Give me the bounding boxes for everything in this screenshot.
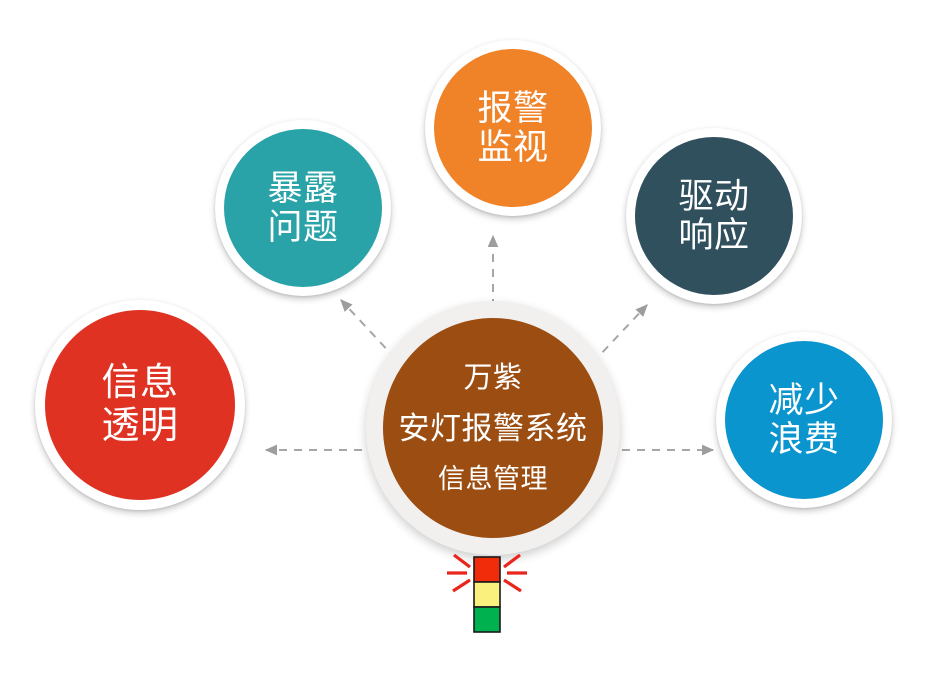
andon-green-lamp bbox=[474, 607, 500, 632]
node-expose-problem[interactable]: 暴露 问题 bbox=[215, 120, 391, 296]
node-reduce-waste[interactable]: 减少 浪费 bbox=[716, 332, 892, 508]
hub-label-3: 信息管理 bbox=[438, 464, 548, 494]
node-info-transparent[interactable]: 信息 透明 bbox=[35, 300, 245, 510]
node-reduce-waste-label-1: 减少 bbox=[768, 381, 839, 420]
node-expose-problem-disc: 暴露 问题 bbox=[224, 129, 382, 287]
node-drive-response-label-2: 响应 bbox=[678, 216, 749, 255]
node-alarm-monitor[interactable]: 报警 监视 bbox=[425, 40, 601, 216]
node-center-hub-disc: 万紫 安灯报警系统 信息管理 bbox=[383, 318, 603, 538]
hub-label-2: 安灯报警系统 bbox=[399, 412, 588, 447]
node-info-transparent-disc: 信息 透明 bbox=[45, 310, 235, 500]
node-info-transparent-label-1: 信息 bbox=[101, 362, 178, 405]
node-alarm-monitor-label-1: 报警 bbox=[477, 89, 548, 128]
node-drive-response-disc: 驱动 响应 bbox=[635, 137, 793, 295]
node-expose-problem-label-2: 问题 bbox=[267, 208, 338, 247]
node-drive-response-label-1: 驱动 bbox=[678, 177, 749, 216]
node-center-hub[interactable]: 万紫 安灯报警系统 信息管理 bbox=[366, 301, 620, 555]
node-reduce-waste-disc: 减少 浪费 bbox=[725, 341, 883, 499]
node-expose-problem-label-1: 暴露 bbox=[267, 169, 338, 208]
andon-flash-rays-right bbox=[504, 555, 527, 591]
andon-red-lamp bbox=[474, 557, 500, 582]
andon-light-tower-icon bbox=[432, 545, 542, 655]
node-info-transparent-label-2: 透明 bbox=[101, 405, 178, 448]
andon-system-diagram: 报警 监视 暴露 问题 驱动 响应 信息 透明 减少 浪费 万紫 安 bbox=[0, 0, 939, 680]
hub-label-1: 万紫 bbox=[463, 362, 522, 394]
node-alarm-monitor-disc: 报警 监视 bbox=[434, 49, 592, 207]
node-drive-response[interactable]: 驱动 响应 bbox=[626, 128, 802, 304]
andon-yellow-lamp bbox=[474, 582, 500, 607]
node-reduce-waste-label-2: 浪费 bbox=[768, 420, 839, 459]
node-alarm-monitor-label-2: 监视 bbox=[477, 128, 548, 167]
andon-flash-rays-left bbox=[447, 555, 470, 591]
